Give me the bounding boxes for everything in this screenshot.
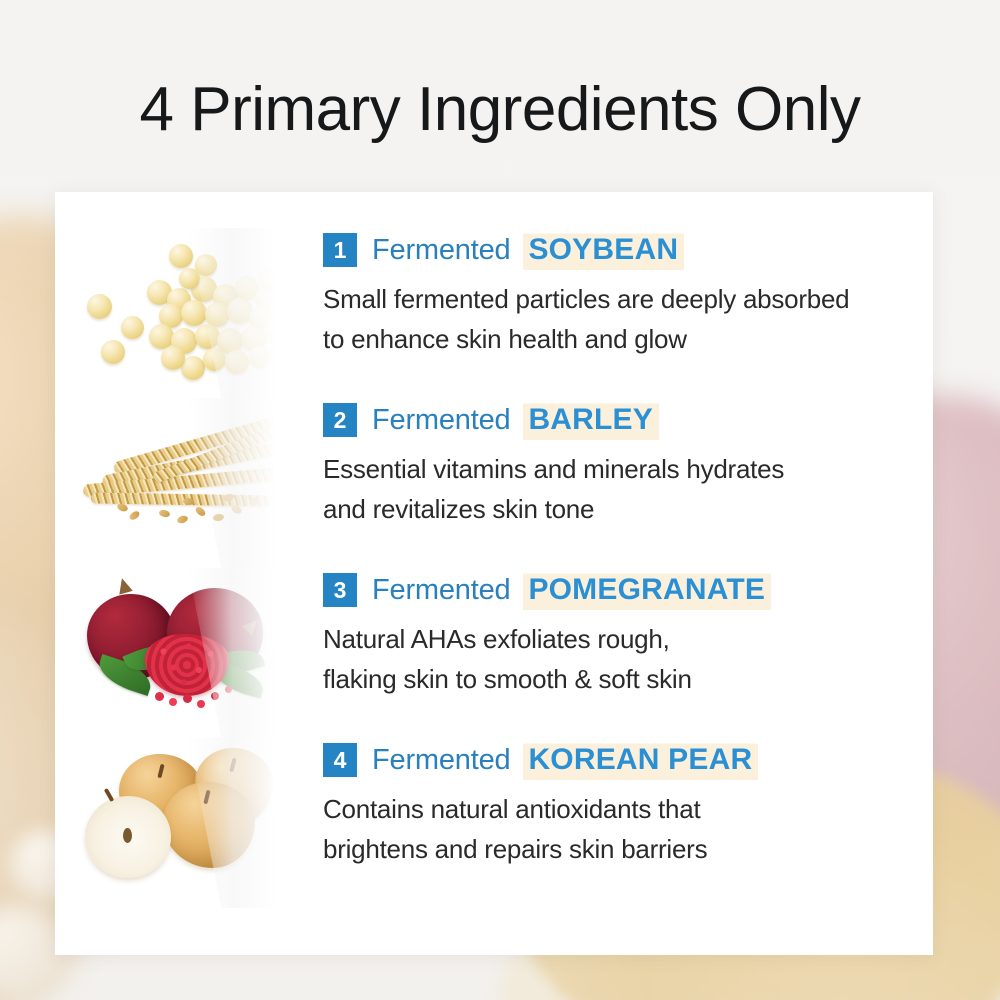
pomegranate-photo: [63, 568, 313, 738]
barley-text-block: 2 Fermented BARLEY Essential vitamins an…: [323, 398, 923, 529]
pomegranate-text-block: 3 Fermented POMEGRANATE Natural AHAs exf…: [323, 568, 923, 699]
korean-pear-photo-canvas: [63, 738, 313, 908]
soybean-photo-canvas: [63, 228, 313, 398]
soybean-photo: [63, 228, 313, 398]
infographic-page: 4 Primary Ingredients Only: [0, 0, 1000, 1000]
pomegranate-heading: 3 Fermented POMEGRANATE: [323, 570, 923, 610]
korean-pear-heading: 4 Fermented KOREAN PEAR: [323, 740, 923, 780]
ingredient-name: BARLEY: [523, 401, 659, 440]
barley-photo-canvas: [63, 398, 313, 568]
ingredient-number-badge: 1: [323, 233, 357, 267]
ingredient-prefix: Fermented: [372, 234, 510, 267]
ingredient-name: POMEGRANATE: [523, 571, 771, 610]
ingredient-row-barley: 2 Fermented BARLEY Essential vitamins an…: [55, 398, 933, 568]
soybean-text-block: 1 Fermented SOYBEAN Small fermented part…: [323, 228, 923, 359]
ingredient-description: Natural AHAs exfoliates rough, flaking s…: [323, 620, 923, 699]
ingredient-description: Small fermented particles are deeply abs…: [323, 280, 923, 359]
korean-pear-photo: [63, 738, 313, 908]
ingredient-description: Contains natural antioxidants that brigh…: [323, 790, 923, 869]
ingredient-name: SOYBEAN: [523, 231, 684, 270]
ingredient-prefix: Fermented: [372, 574, 510, 607]
ingredient-number-badge: 2: [323, 403, 357, 437]
ingredients-card: 1 Fermented SOYBEAN Small fermented part…: [55, 192, 933, 955]
pomegranate-photo-canvas: [63, 568, 313, 738]
ingredient-name: KOREAN PEAR: [523, 741, 758, 780]
ingredient-number-badge: 3: [323, 573, 357, 607]
ingredient-prefix: Fermented: [372, 744, 510, 777]
ingredient-description: Essential vitamins and minerals hydrates…: [323, 450, 923, 529]
soybean-heading: 1 Fermented SOYBEAN: [323, 230, 923, 270]
ingredient-number-badge: 4: [323, 743, 357, 777]
korean-pear-text-block: 4 Fermented KOREAN PEAR Contains natural…: [323, 738, 923, 869]
ingredient-row-soybean: 1 Fermented SOYBEAN Small fermented part…: [55, 228, 933, 398]
ingredient-row-pomegranate: 3 Fermented POMEGRANATE Natural AHAs exf…: [55, 568, 933, 738]
page-title: 4 Primary Ingredients Only: [0, 78, 1000, 142]
barley-photo: [63, 398, 313, 568]
ingredient-prefix: Fermented: [372, 404, 510, 437]
barley-heading: 2 Fermented BARLEY: [323, 400, 923, 440]
ingredient-row-korean-pear: 4 Fermented KOREAN PEAR Contains natural…: [55, 738, 933, 908]
